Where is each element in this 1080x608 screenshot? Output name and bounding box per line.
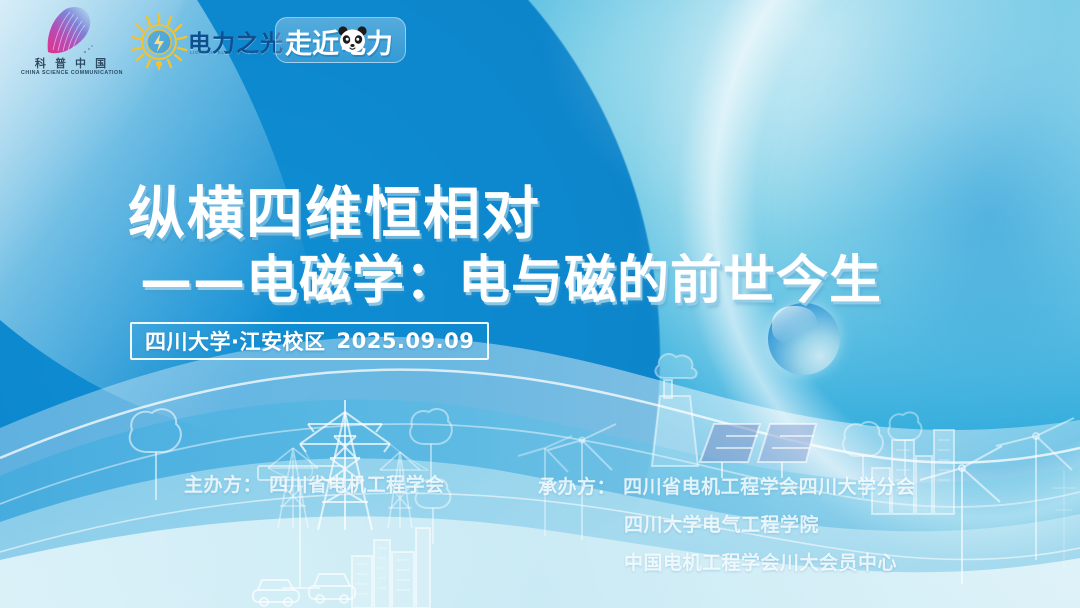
logo-kepu-cn-text: 科 普 中 国 [18,58,126,70]
date-text: 2025.09.09 [336,329,474,353]
logo-kepu-china[interactable]: 科 普 中 国 CHINA SCIENCE COMMUNICATION [18,6,126,82]
logo-dianli-subtext: LIGHT OF ELECTRIC POWER [190,50,268,55]
organizer-line-1: 承办方： 四川省电机工程学会四川大学分会 [538,472,916,499]
poster-canvas: 科 普 中 国 CHINA SCIENCE COMMUNICATION 电力之光… [0,0,1080,608]
gradient-wing-icon [40,6,102,58]
venue-date-badge: 四川大学·江安校区 2025.09.09 [130,322,489,360]
host-line: 主办方： 四川省电机工程学会 [184,470,445,497]
organizer-line-3: 中国电机工程学会川大会员中心 [624,548,897,575]
logo-bar: 科 普 中 国 CHINA SCIENCE COMMUNICATION 电力之光… [0,0,1080,86]
logo-dianli-zhiguang[interactable]: 电力之光 LIGHT OF ELECTRIC POWER [130,12,262,72]
sunburst-icon [130,12,188,70]
logo-kepu-en-text: CHINA SCIENCE COMMUNICATION [19,70,125,76]
organizer-line-2: 四川大学电气工程学院 [624,510,819,537]
page-subtitle: ——电磁学：电与磁的前世今生 [140,238,882,313]
venue-text: 四川大学·江安校区 [145,326,325,356]
logo-zoujin-dianli[interactable]: 走近电力 [275,17,406,63]
panda-head-icon [337,25,368,54]
